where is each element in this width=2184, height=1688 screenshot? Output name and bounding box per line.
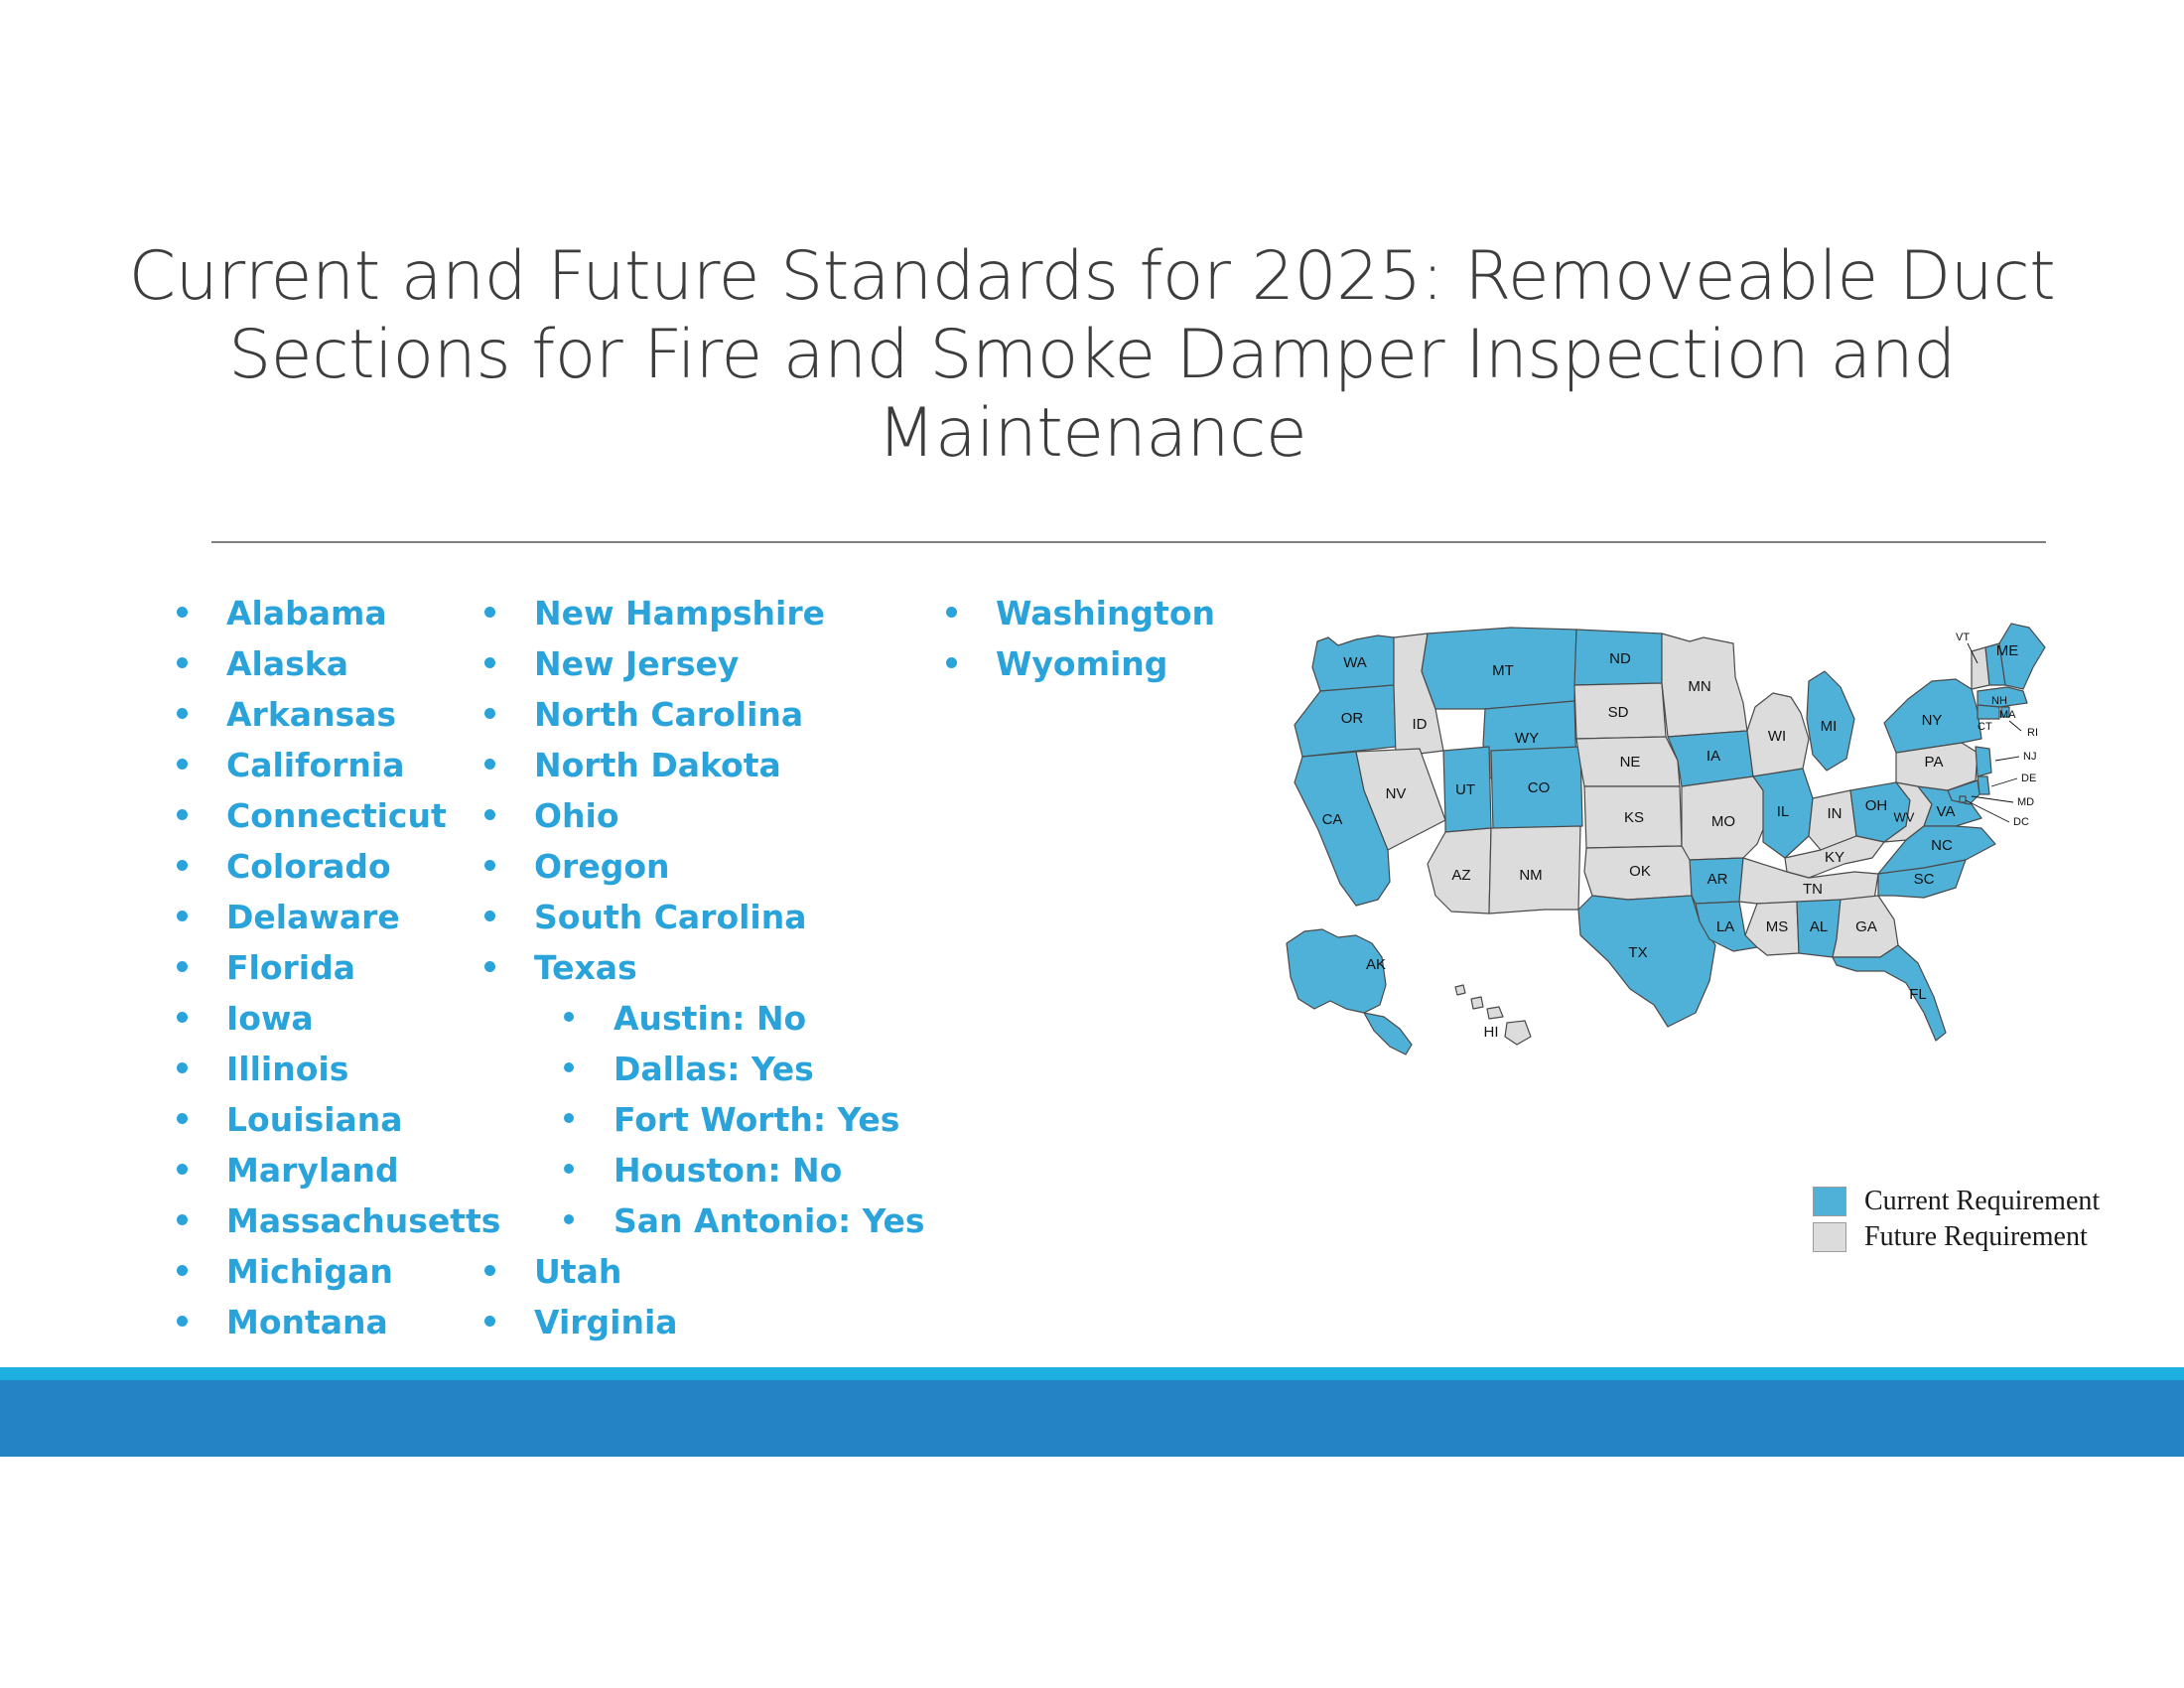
list-item-label: Washington <box>996 591 1215 636</box>
map-label-NJ: NJ <box>2023 751 2036 763</box>
map-label-DE: DE <box>2021 773 2036 784</box>
bullet-icon <box>564 1012 578 1022</box>
list-item-label: Colorado <box>226 844 391 890</box>
map-label-CA: CA <box>1322 811 1343 828</box>
list-item-label: South Carolina <box>534 895 807 940</box>
map-label-NM: NM <box>1519 867 1542 884</box>
list-item-label: Illinois <box>226 1047 348 1092</box>
list-item[interactable]: North Carolina <box>467 692 923 743</box>
map-label-LA: LA <box>1716 918 1734 935</box>
map-label-WV: WV <box>1894 809 1915 824</box>
bullet-icon <box>946 657 960 668</box>
sub-list-item-label: Dallas: Yes <box>614 1047 814 1092</box>
title-divider <box>211 541 2046 543</box>
bullet-icon <box>946 607 960 618</box>
map-label-AR: AR <box>1707 871 1728 888</box>
list-item-label: Montana <box>226 1300 388 1345</box>
list-item[interactable]: Florida <box>159 945 486 996</box>
bullet-icon <box>177 911 191 921</box>
sub-list-item[interactable]: Fort Worth: Yes <box>467 1097 923 1148</box>
map-label-MA: MA <box>1999 709 2016 721</box>
list-item[interactable]: Massachusetts <box>159 1198 486 1249</box>
map-label-MD: MD <box>2017 796 2034 808</box>
list-item-label: Arkansas <box>226 692 396 738</box>
map-label-WY: WY <box>1515 730 1539 747</box>
sub-list-item-label: San Antonio: Yes <box>614 1198 925 1244</box>
bullet-icon <box>177 1012 191 1023</box>
texas-city-sublist: Austin: No Dallas: Yes Fort Worth: Yes H… <box>467 996 923 1249</box>
list-item[interactable]: Connecticut <box>159 793 486 844</box>
us-requirements-map: WA OR CA ID NV MT WY UT CO AZ NM ND SD N… <box>1261 616 2085 1251</box>
list-item-label: Iowa <box>226 996 314 1042</box>
bullet-icon <box>484 1316 498 1327</box>
map-label-PA: PA <box>1925 754 1944 771</box>
bullet-icon <box>177 657 191 668</box>
footer-accent-bar <box>0 1367 2184 1380</box>
list-item-label: Michigan <box>226 1249 393 1295</box>
map-label-KY: KY <box>1825 849 1844 866</box>
map-label-CT: CT <box>1978 721 1992 733</box>
map-label-NE: NE <box>1620 754 1641 771</box>
list-item[interactable]: Maryland <box>159 1148 486 1198</box>
map-label-NY: NY <box>1922 712 1943 729</box>
bullet-icon <box>177 1214 191 1225</box>
bullet-icon <box>177 759 191 770</box>
list-item[interactable]: Ohio <box>467 793 923 844</box>
bullet-icon <box>484 911 498 921</box>
map-label-GA: GA <box>1855 918 1877 935</box>
map-label-FL: FL <box>1909 986 1927 1003</box>
sub-list-item[interactable]: Houston: No <box>467 1148 923 1198</box>
list-item[interactable]: Virginia <box>467 1300 923 1350</box>
list-item[interactable]: Illinois <box>159 1047 486 1097</box>
bullet-icon <box>177 860 191 871</box>
bullet-icon <box>564 1214 578 1224</box>
list-item-label: Wyoming <box>996 641 1167 687</box>
bullet-icon <box>564 1113 578 1123</box>
state-NJ <box>1976 747 1991 776</box>
bullet-icon <box>177 1265 191 1276</box>
map-label-NV: NV <box>1386 785 1407 802</box>
list-item-label: Louisiana <box>226 1097 403 1143</box>
state-HI-4 <box>1505 1021 1531 1045</box>
bullet-icon <box>484 759 498 770</box>
map-label-ME: ME <box>1996 642 2019 659</box>
list-item-label: New Jersey <box>534 641 739 687</box>
sub-list-item-label: Fort Worth: Yes <box>614 1097 899 1143</box>
list-item-label: Alabama <box>226 591 387 636</box>
list-item-label: North Dakota <box>534 743 781 788</box>
map-label-AZ: AZ <box>1451 867 1470 884</box>
list-item[interactable]: Colorado <box>159 844 486 895</box>
list-item-label: Oregon <box>534 844 670 890</box>
bullet-icon <box>484 708 498 719</box>
state-HI-1 <box>1455 985 1465 995</box>
map-label-ID: ID <box>1413 716 1428 733</box>
state-HI-2 <box>1471 997 1483 1009</box>
list-item[interactable]: Arkansas <box>159 692 486 743</box>
map-label-WA: WA <box>1343 654 1367 671</box>
sub-list-item[interactable]: Dallas: Yes <box>467 1047 923 1097</box>
bullet-icon <box>484 657 498 668</box>
list-item[interactable]: Oregon <box>467 844 923 895</box>
list-item[interactable]: Louisiana <box>159 1097 486 1148</box>
map-label-OK: OK <box>1629 863 1651 880</box>
state-column-3: Washington Wyoming <box>928 591 1256 692</box>
map-label-ND: ND <box>1609 650 1631 667</box>
footer-bar <box>0 1380 2184 1457</box>
list-item-label: New Hampshire <box>534 591 825 636</box>
map-label-AK: AK <box>1366 956 1386 973</box>
bullet-icon <box>177 708 191 719</box>
map-label-IA: IA <box>1706 748 1720 765</box>
sub-list-item[interactable]: Austin: No <box>467 996 923 1047</box>
map-label-NH: NH <box>1991 695 2007 707</box>
list-item-label: California <box>226 743 405 788</box>
sub-list-item[interactable]: San Antonio: Yes <box>467 1198 923 1249</box>
map-label-KS: KS <box>1624 809 1644 826</box>
list-item-label: Alaska <box>226 641 348 687</box>
map-legend: Current Requirement Future Requirement <box>1813 1184 2111 1255</box>
bullet-icon <box>484 860 498 871</box>
list-item-label: North Carolina <box>534 692 803 738</box>
state-CT <box>1978 705 1999 719</box>
us-map-svg: WA OR CA ID NV MT WY UT CO AZ NM ND SD N… <box>1261 616 2085 1112</box>
map-label-OH: OH <box>1865 797 1888 814</box>
list-item-texas[interactable]: Texas <box>467 945 923 996</box>
map-label-TX: TX <box>1628 944 1647 961</box>
list-item[interactable]: Alabama <box>159 591 486 641</box>
legend-swatch-current-icon <box>1813 1187 1846 1216</box>
list-item[interactable]: North Dakota <box>467 743 923 793</box>
bullet-icon <box>177 1113 191 1124</box>
map-label-CO: CO <box>1528 779 1551 796</box>
list-item[interactable]: Washington <box>928 591 1256 641</box>
map-label-MS: MS <box>1766 918 1789 935</box>
map-label-HI: HI <box>1484 1024 1499 1041</box>
bullet-icon <box>177 1164 191 1175</box>
bullet-icon <box>484 961 498 972</box>
map-label-NC: NC <box>1931 837 1953 854</box>
legend-label-current: Current Requirement <box>1864 1186 2100 1217</box>
legend-swatch-future-icon <box>1813 1222 1846 1252</box>
bullet-icon <box>564 1164 578 1174</box>
bullet-icon <box>484 607 498 618</box>
map-label-WI: WI <box>1768 728 1786 745</box>
legend-row-future: Future Requirement <box>1813 1219 2111 1255</box>
list-item[interactable]: Montana <box>159 1300 486 1350</box>
map-label-SD: SD <box>1608 704 1629 721</box>
list-item[interactable]: Wyoming <box>928 641 1256 692</box>
list-item[interactable]: Alaska <box>159 641 486 692</box>
list-item-label: Maryland <box>226 1148 399 1194</box>
list-item-label: Connecticut <box>226 793 447 839</box>
state-FL <box>1833 945 1946 1041</box>
list-item[interactable]: California <box>159 743 486 793</box>
state-column-2: New Hampshire New Jersey North Carolina … <box>467 591 923 1350</box>
map-label-UT: UT <box>1455 781 1475 798</box>
state-column-1: Alabama Alaska Arkansas California Conne… <box>159 591 486 1350</box>
list-item[interactable]: Delaware <box>159 895 486 945</box>
list-item[interactable]: New Hampshire <box>467 591 923 641</box>
bullet-icon <box>484 809 498 820</box>
list-item-label: Texas <box>534 945 637 991</box>
list-item[interactable]: South Carolina <box>467 895 923 945</box>
list-item-label: Massachusetts <box>226 1198 500 1244</box>
bullet-icon <box>177 607 191 618</box>
map-label-VT: VT <box>1956 632 1970 643</box>
map-label-TN: TN <box>1803 881 1823 898</box>
list-item[interactable]: Michigan <box>159 1249 486 1300</box>
state-TX <box>1578 896 1715 1027</box>
map-label-SC: SC <box>1914 871 1935 888</box>
map-label-IL: IL <box>1777 803 1790 820</box>
map-label-AL: AL <box>1810 918 1828 935</box>
map-label-MN: MN <box>1688 678 1710 695</box>
map-label-RI: RI <box>2027 727 2038 739</box>
legend-row-current: Current Requirement <box>1813 1184 2111 1219</box>
list-item[interactable]: Utah <box>467 1249 923 1300</box>
state-list-area: Alabama Alaska Arkansas California Conne… <box>0 591 1291 1345</box>
sub-list-item-label: Houston: No <box>614 1148 842 1194</box>
map-label-MI: MI <box>1821 718 1838 735</box>
state-DC <box>1960 796 1966 802</box>
map-label-VA: VA <box>1937 803 1956 820</box>
list-item-label: Virginia <box>534 1300 678 1345</box>
list-item[interactable]: New Jersey <box>467 641 923 692</box>
map-label-MO: MO <box>1711 813 1735 830</box>
list-item[interactable]: Iowa <box>159 996 486 1047</box>
map-label-MT: MT <box>1492 662 1514 679</box>
bullet-icon <box>177 809 191 820</box>
map-label-IN: IN <box>1828 805 1843 822</box>
list-item-label: Utah <box>534 1249 621 1295</box>
list-item-label: Ohio <box>534 793 619 839</box>
bullet-icon <box>177 1062 191 1073</box>
state-HI-3 <box>1487 1007 1503 1019</box>
map-label-OR: OR <box>1341 710 1364 727</box>
sub-list-item-label: Austin: No <box>614 996 806 1042</box>
list-item-label: Florida <box>226 945 355 991</box>
bullet-icon <box>484 1265 498 1276</box>
bullet-icon <box>564 1062 578 1072</box>
bullet-icon <box>177 961 191 972</box>
state-AK-panhandle <box>1364 1013 1412 1055</box>
legend-label-future: Future Requirement <box>1864 1221 2088 1253</box>
page-title: Current and Future Standards for 2025: R… <box>77 238 2107 474</box>
bullet-icon <box>177 1316 191 1327</box>
list-item-label: Delaware <box>226 895 400 940</box>
map-label-DC: DC <box>2013 816 2029 828</box>
